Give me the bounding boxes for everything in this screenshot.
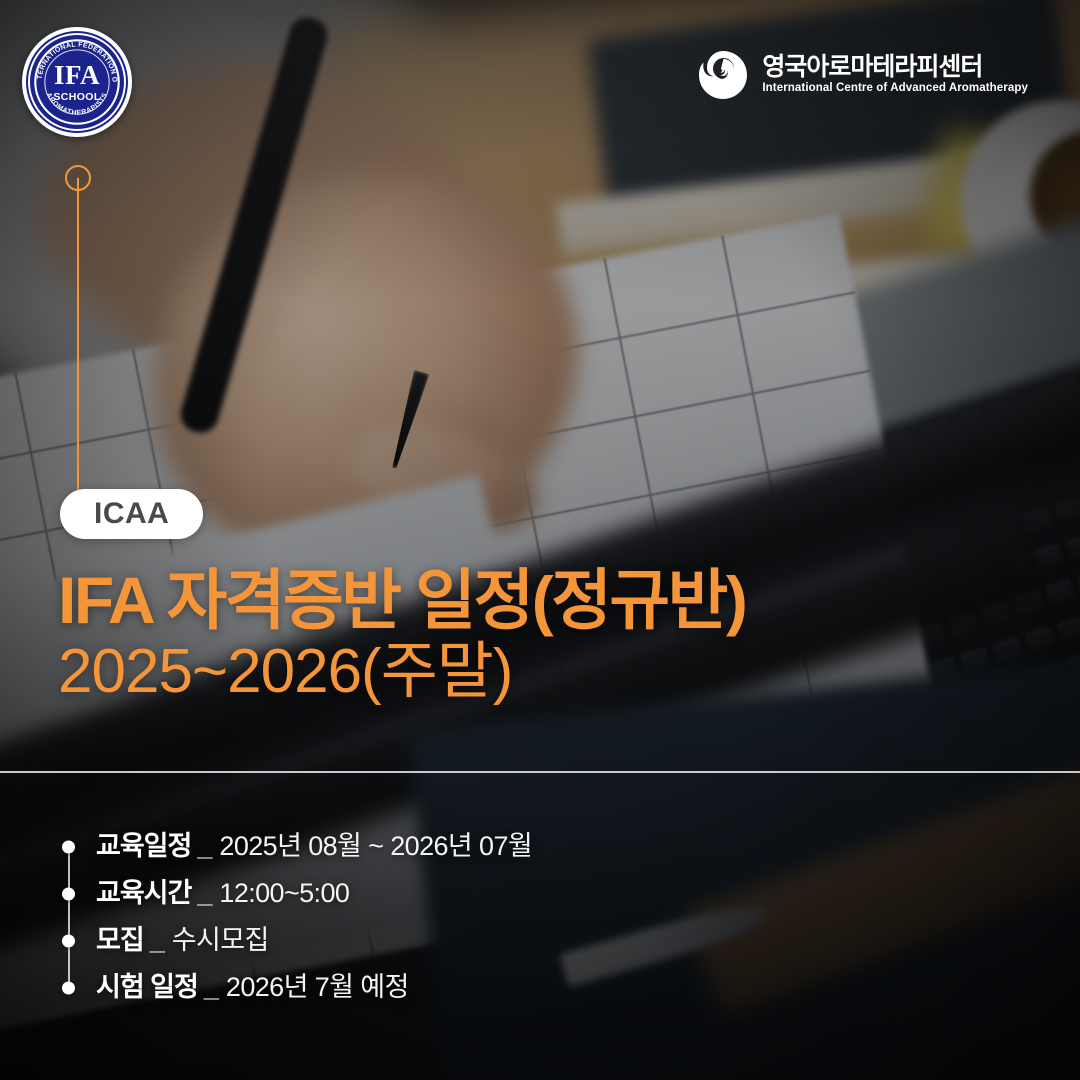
brand-lockup: 영국아로마테라피센터 International Centre of Advan… <box>696 48 1028 102</box>
list-item-label: 교육시간 <box>96 880 191 907</box>
ifa-badge-center: IFA SCHOOL <box>53 62 100 103</box>
headline-line-1: IFA 자격증반 일정(정규반) <box>58 566 1038 635</box>
list-item: 시험 일정 _ 2026년 7월 예정 <box>56 964 956 1011</box>
marker-line <box>77 178 80 495</box>
category-pill-label: ICAA <box>94 499 169 529</box>
list-item: 교육일정 _ 2025년 08월 ~ 2026년 07월 <box>56 823 956 870</box>
bullet-dot-icon <box>62 840 75 853</box>
ifa-sub: SCHOOL <box>53 92 100 103</box>
rose-spiral-icon <box>696 48 750 102</box>
ifa-school-badge: INTERNATIONAL FEDERATION OF AROMATHERAPI… <box>22 27 132 137</box>
list-item-value: 2025년 08월 ~ 2026년 07월 <box>219 833 532 860</box>
brand-name-en: International Centre of Advanced Aromath… <box>762 83 1028 95</box>
list-item-value: 수시모집 <box>172 927 269 954</box>
list-item-label: 교육일정 <box>96 833 191 860</box>
list-item-label: 모집 <box>96 927 144 954</box>
list-item-value: 2026년 7월 예정 <box>226 974 409 1001</box>
info-list: 교육일정 _ 2025년 08월 ~ 2026년 07월 교육시간 _ 12:0… <box>56 823 956 1011</box>
ifa-abbr: IFA <box>53 62 100 89</box>
brand-name-ko: 영국아로마테라피센터 <box>762 55 1028 80</box>
list-item: 모집 _ 수시모집 <box>56 917 956 964</box>
list-item-label: 시험 일정 <box>96 974 198 1001</box>
list-item-value: 12:00~5:00 <box>219 880 349 907</box>
accent-marker <box>65 165 91 495</box>
headline-line-2: 2025~2026(주말) <box>58 637 1038 706</box>
promo-poster: INTERNATIONAL FEDERATION OF AROMATHERAPI… <box>0 0 1080 1080</box>
page-title: IFA 자격증반 일정(정규반) 2025~2026(주말) <box>58 566 1038 707</box>
list-item-separator: _ <box>197 833 212 860</box>
bullet-dot-icon <box>62 981 75 994</box>
list-item: 교육시간 _ 12:00~5:00 <box>56 870 956 917</box>
list-item-separator: _ <box>197 880 212 907</box>
poster-content: INTERNATIONAL FEDERATION OF AROMATHERAPI… <box>0 0 1080 1080</box>
bullet-dot-icon <box>62 887 75 900</box>
category-pill: ICAA <box>60 489 203 539</box>
bullet-dot-icon <box>62 934 75 947</box>
ifa-badge-disc: INTERNATIONAL FEDERATION OF AROMATHERAPI… <box>28 33 126 131</box>
brand-text: 영국아로마테라피센터 International Centre of Advan… <box>762 55 1028 95</box>
list-item-separator: _ <box>150 927 165 954</box>
section-divider <box>0 771 1080 773</box>
list-item-separator: _ <box>204 974 219 1001</box>
